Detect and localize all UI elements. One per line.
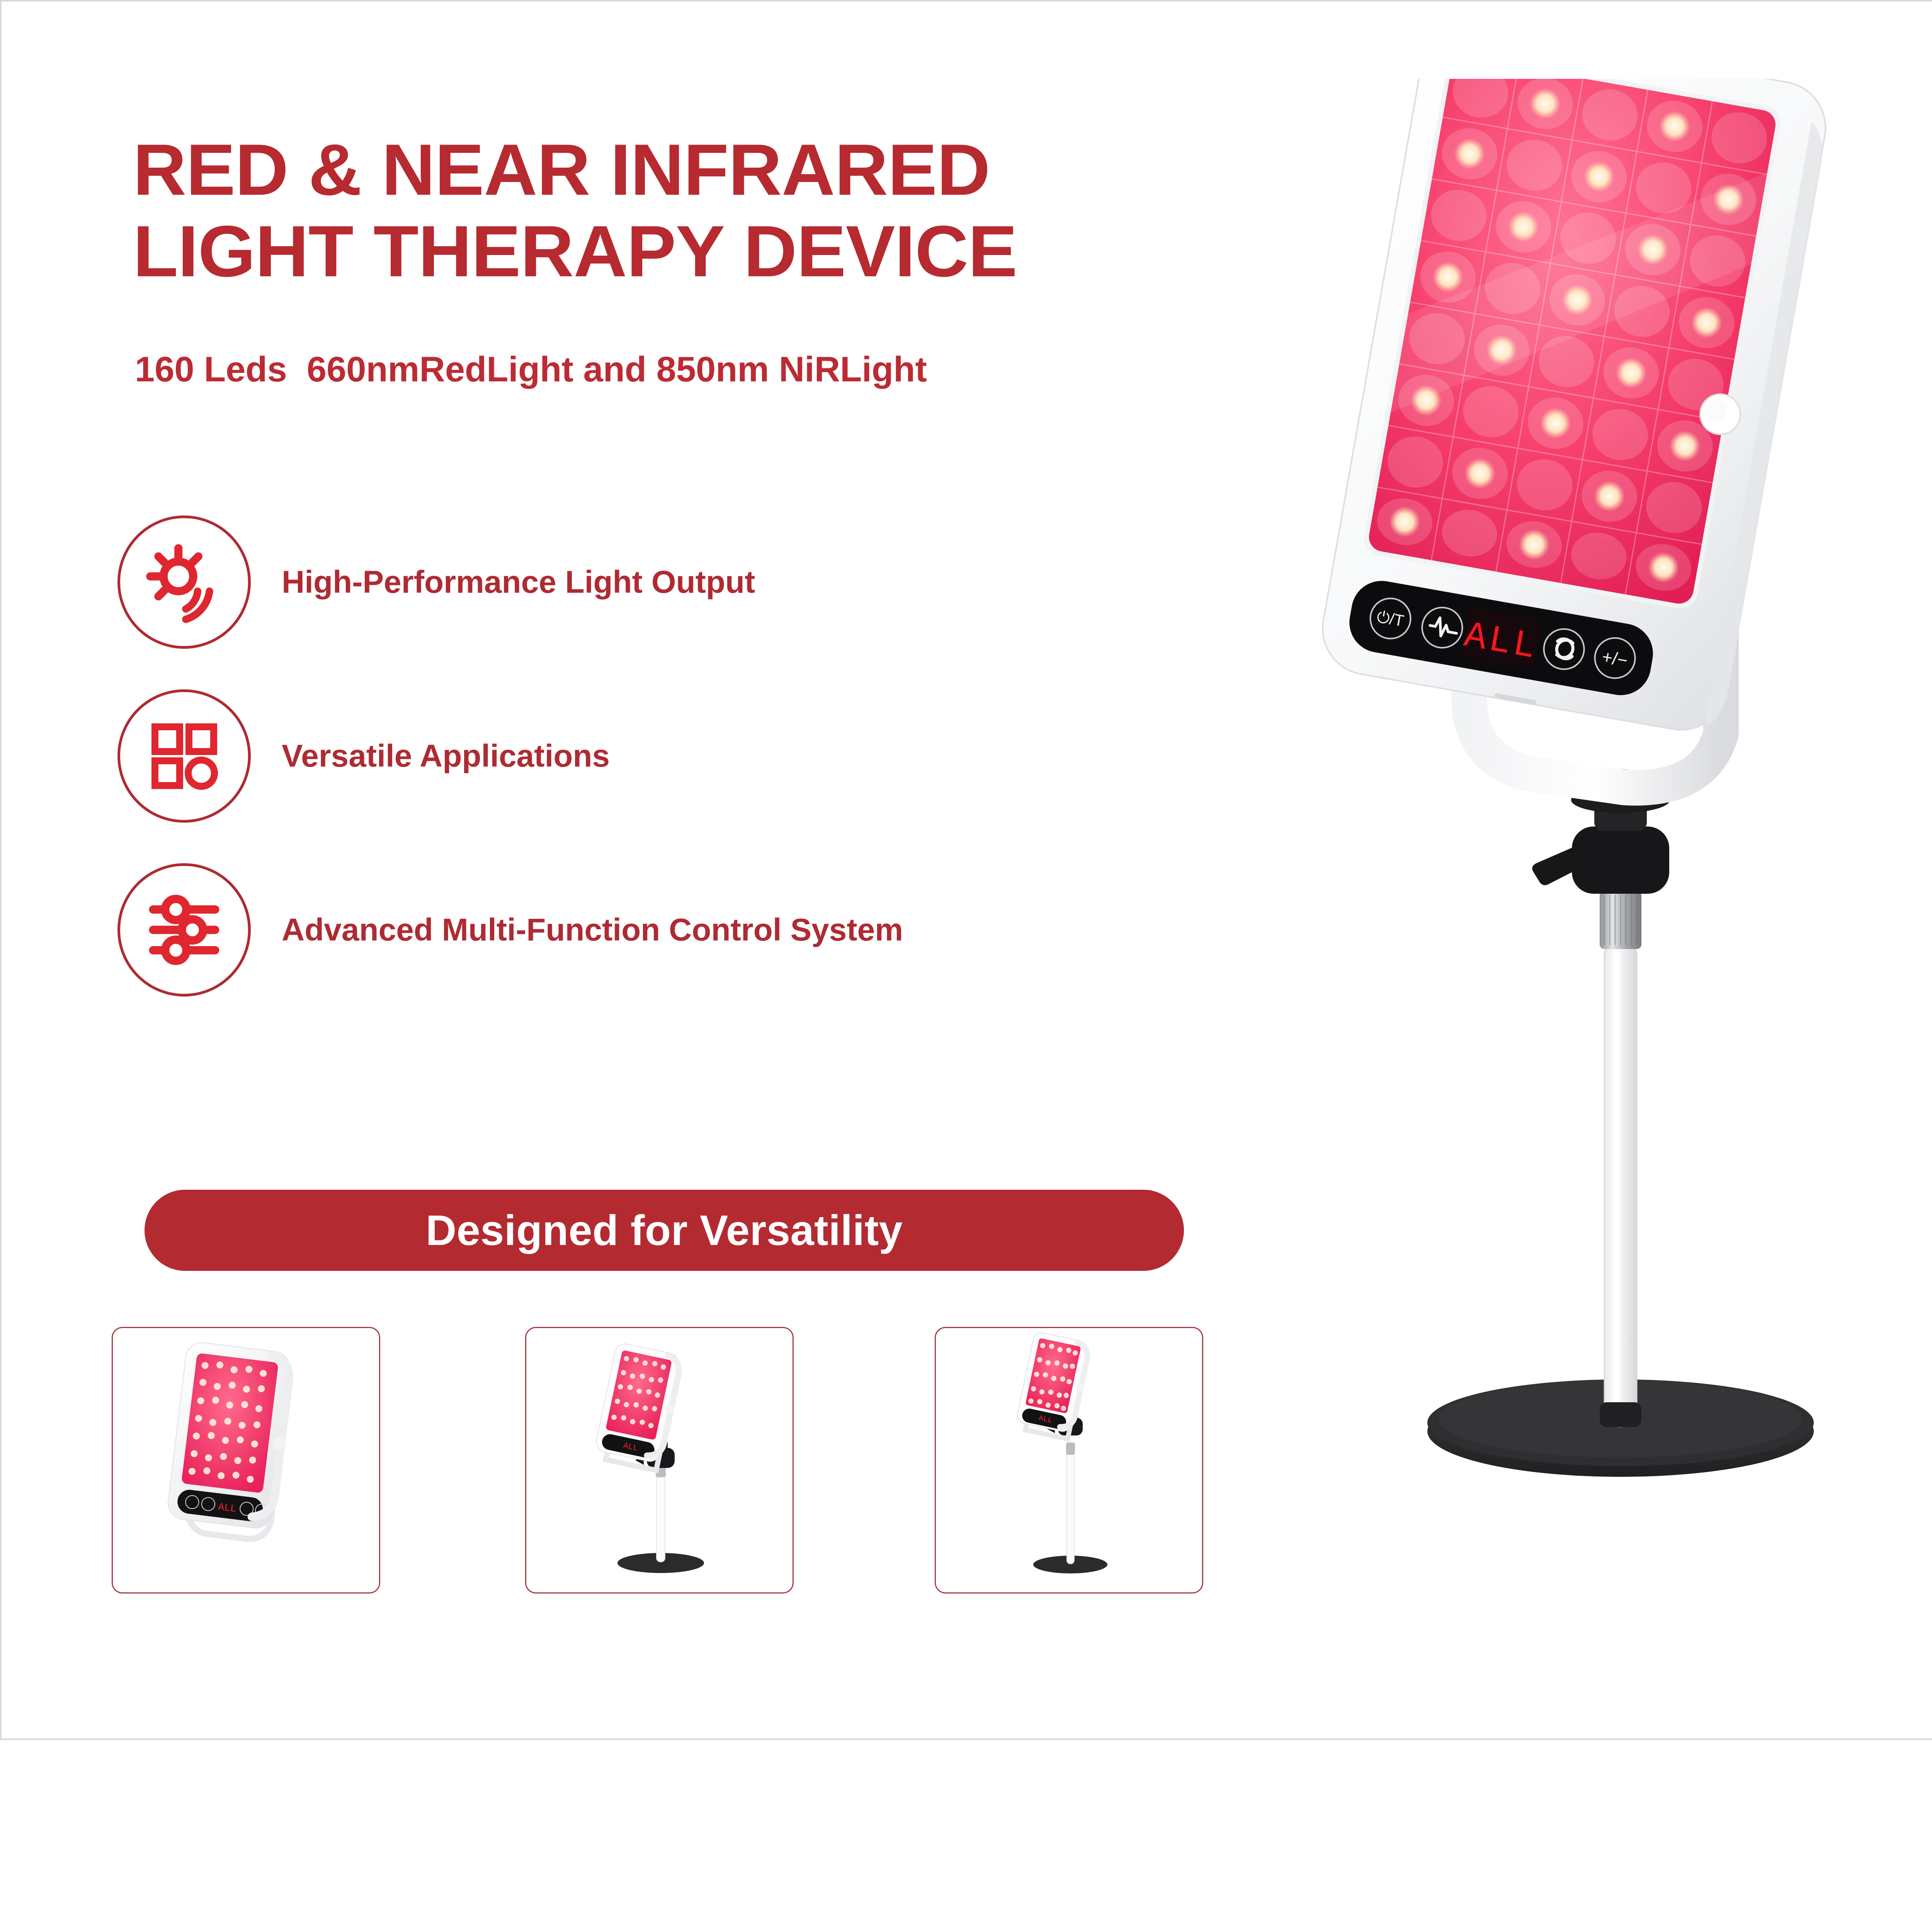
product-hero-image: ⏻/T ALL: [1288, 79, 1932, 1648]
feature-item-versatile-applications: Versatile Applications: [117, 689, 903, 823]
feature-label: Versatile Applications: [282, 738, 610, 774]
thumbnail-gallery: ALL: [112, 1327, 1201, 1644]
thumbnail-card-height-adjustment[interactable]: ALL: [935, 1327, 1203, 1594]
headline-line-1: RED & NEAR INFRARED: [133, 129, 1276, 211]
height-adjust-pole: [1600, 940, 1641, 1427]
svg-text:ALL: ALL: [218, 1501, 237, 1515]
feature-item-control-system: Advanced Multi-Function Control System: [117, 863, 903, 997]
page-title: RED & NEAR INFRARED LIGHT THERAPY DEVICE: [133, 129, 1253, 292]
device-head: ⏻/T ALL: [1315, 79, 1834, 738]
tilt-hinge-knob: [1700, 394, 1740, 434]
versatility-banner: Designed for Versatility: [145, 1190, 1184, 1271]
chrome-collar: [1600, 891, 1641, 949]
infographic-page: RED & NEAR INFRARED LIGHT THERAPY DEVICE…: [0, 0, 1932, 1740]
feature-label: High-Performance Light Output: [282, 564, 755, 600]
banner-label: Designed for Versatility: [426, 1206, 903, 1255]
subtitle-specs: 160 Leds 660nmRedLight and 850nm NiRLigh…: [135, 349, 927, 390]
sun-radiation-icon: [117, 515, 251, 649]
feature-item-light-output: High-Performance Light Output: [117, 515, 903, 649]
feature-list: High-Performance Light Output Versatile …: [117, 515, 903, 997]
thumbnail-card-adjustable-base[interactable]: ALL: [525, 1327, 794, 1594]
sliders-icon: [117, 863, 251, 997]
headline-line-2: LIGHT THERAPY DEVICE: [133, 211, 1276, 292]
thumbnail-card-freestanding[interactable]: ALL: [112, 1327, 380, 1594]
application-grid-icon: [117, 689, 251, 823]
feature-label: Advanced Multi-Function Control System: [282, 912, 903, 948]
